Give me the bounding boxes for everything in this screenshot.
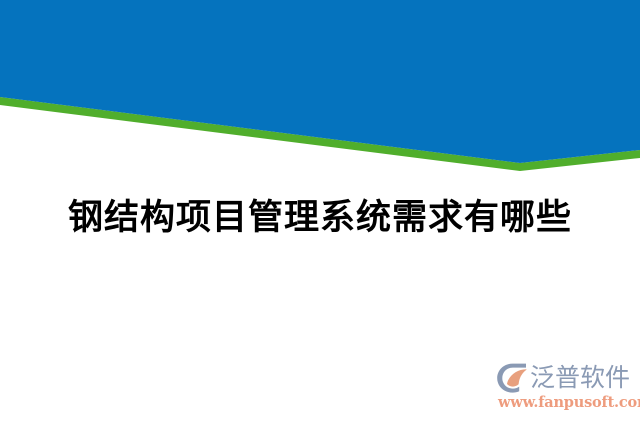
brand-logo[interactable]: 泛普软件 www.fanpusoft.com [496,361,632,419]
header-chevron-band [0,0,640,180]
logo-wordmark: 泛普软件 [530,364,630,392]
article-banner: 钢结构项目管理系统需求有哪些 泛普软件 www.fanpusoft.com [0,0,640,427]
fanpu-swoosh-icon [496,362,528,394]
title-block: 钢结构项目管理系统需求有哪些 [0,196,640,240]
page-title: 钢结构项目管理系统需求有哪些 [68,196,572,240]
logo-url[interactable]: www.fanpusoft.com [498,394,632,412]
logo-row: 泛普软件 [496,361,630,395]
